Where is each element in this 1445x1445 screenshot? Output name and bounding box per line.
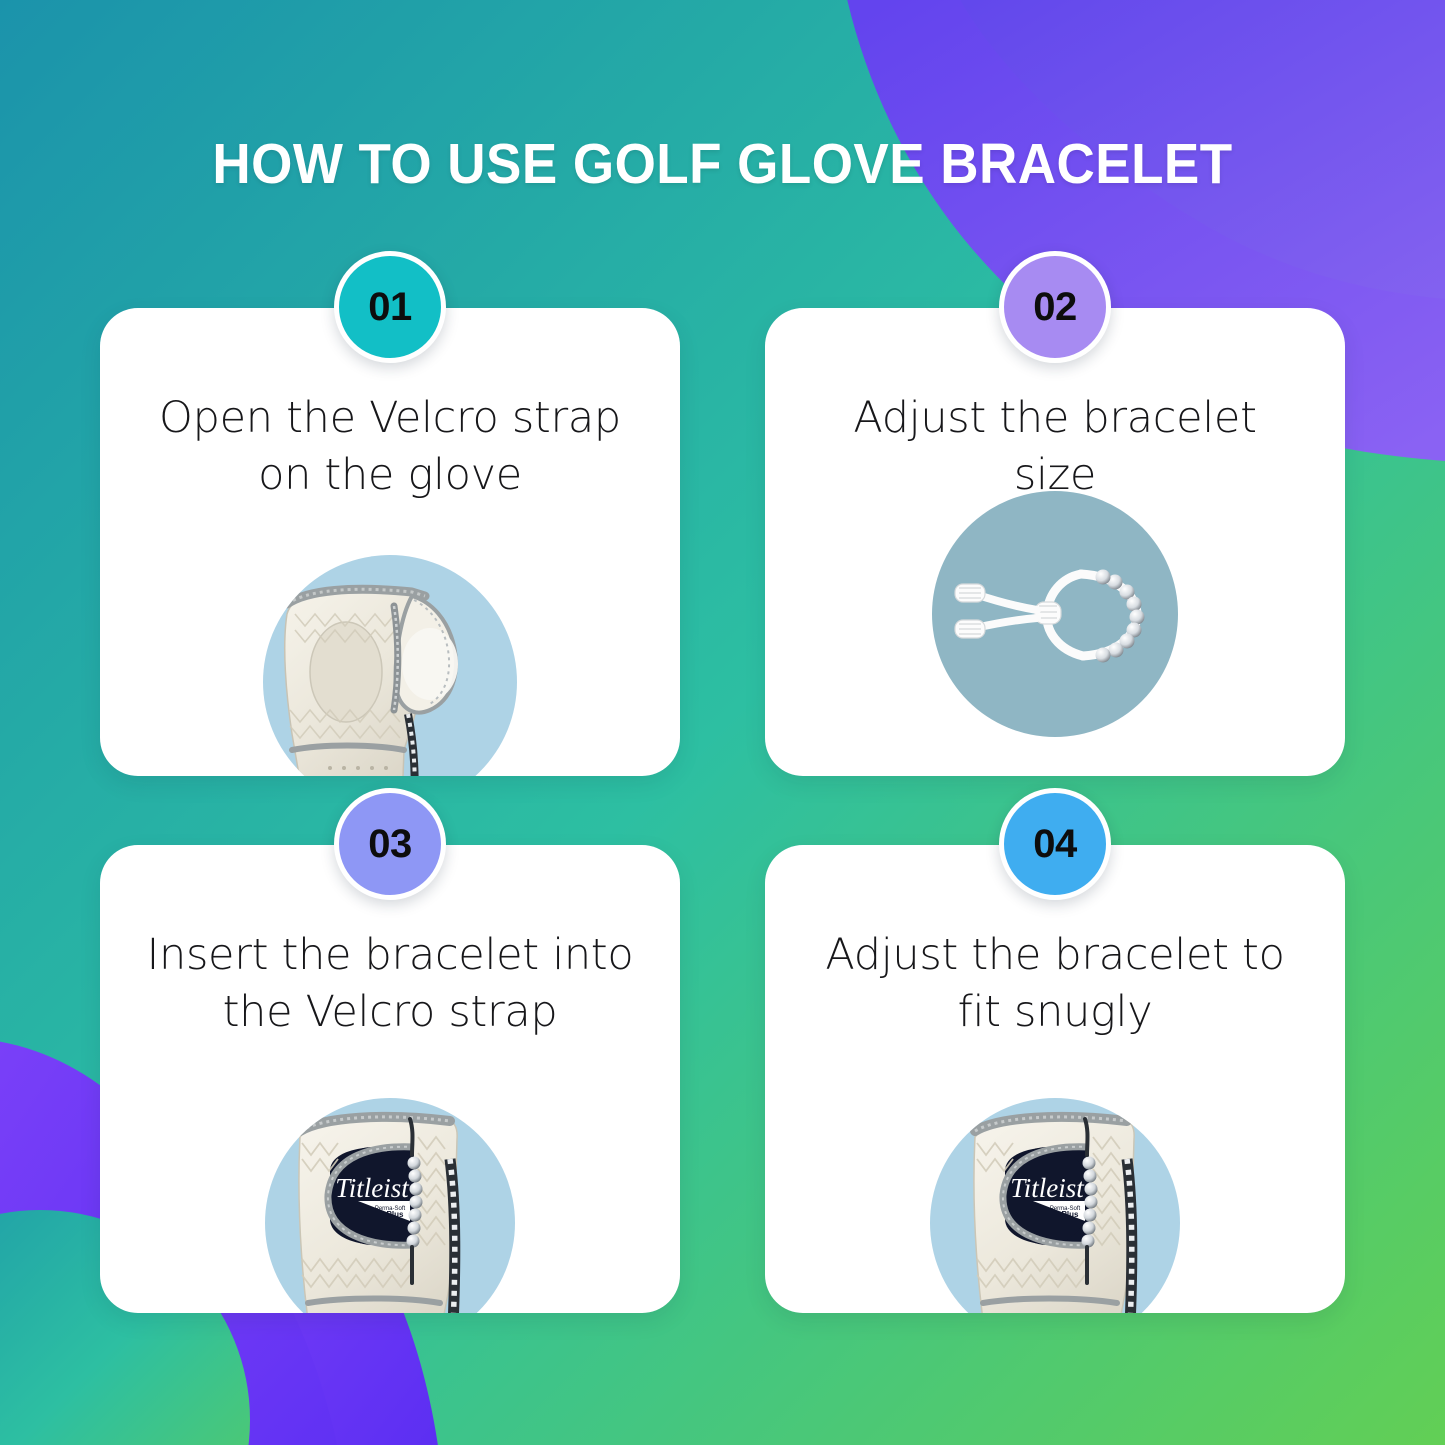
step-description-01: Open the Velcro strap on the glove <box>141 390 640 504</box>
step-image-clip-03: Titleist Perma-Soft Plus <box>100 845 680 1313</box>
step-card-04[interactable]: 04 Adjust the bracelet to fit snugly <box>765 845 1345 1313</box>
bracelet-fitted-snugly-on-glove-photo: Titleist Perma-Soft Plus <box>929 1097 1181 1313</box>
steps-grid: 01 Open the Velcro strap on the glove <box>100 308 1345 1313</box>
step-card-02[interactable]: 02 Adjust the bracelet size <box>765 308 1345 776</box>
step-image-clip-01 <box>100 308 680 776</box>
titleist-brand-text: Titleist <box>335 1173 410 1203</box>
step-badge-04: 04 <box>999 788 1111 900</box>
svg-text:Plus: Plus <box>387 1210 404 1219</box>
step-card-03[interactable]: 03 Insert the bracelet into the Velcro s… <box>100 845 680 1313</box>
svg-text:Plus: Plus <box>1062 1210 1079 1219</box>
step-number-label: 01 <box>368 285 412 330</box>
step-image-clip-02 <box>765 308 1345 776</box>
step-badge-02: 02 <box>999 251 1111 363</box>
step-description-03: Insert the bracelet into the Velcro stra… <box>141 927 640 1041</box>
step-badge-01: 01 <box>334 251 446 363</box>
titleist-brand-text: Titleist <box>1010 1173 1085 1203</box>
step-number-label: 04 <box>1033 822 1077 867</box>
golf-glove-open-velcro-strap-photo <box>262 554 518 776</box>
step-number-label: 03 <box>368 822 412 867</box>
step-image-clip-04: Titleist Perma-Soft Plus <box>765 845 1345 1313</box>
step-number-label: 02 <box>1033 285 1077 330</box>
step-description-02: Adjust the bracelet size <box>806 390 1305 504</box>
step-card-01[interactable]: 01 Open the Velcro strap on the glove <box>100 308 680 776</box>
svg-text:Perma-Soft: Perma-Soft <box>375 1206 406 1212</box>
beaded-cord-bracelet-photo <box>931 490 1179 738</box>
bracelet-inserted-in-glove-strap-photo: Titleist Perma-Soft Plus <box>264 1097 516 1313</box>
step-description-04: Adjust the bracelet to fit snugly <box>806 927 1305 1041</box>
page-title: HOW TO USE GOLF GLOVE BRACELET <box>51 131 1395 197</box>
step-badge-03: 03 <box>334 788 446 900</box>
svg-text:Perma-Soft: Perma-Soft <box>1050 1206 1081 1212</box>
